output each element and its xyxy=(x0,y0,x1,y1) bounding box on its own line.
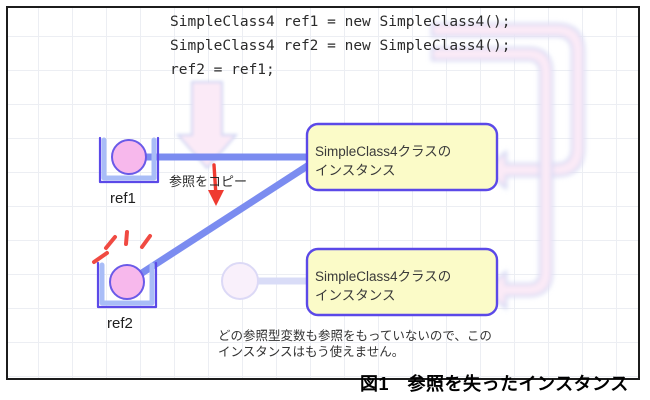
faded-reference-circle xyxy=(222,263,258,299)
code-line-2: SimpleClass4 ref2 = new SimpleClass4(); xyxy=(170,38,510,54)
instance-box-1-text: SimpleClass4クラスの インスタンス xyxy=(315,142,495,180)
copy-reference-label: 参照をコピー xyxy=(169,171,247,190)
orphan-instance-note: どの参照型変数も参照をもっていないので、この インスタンスはもう使えません。 xyxy=(218,328,518,360)
code-line-1: SimpleClass4 ref1 = new SimpleClass4(); xyxy=(170,14,510,30)
instance-box-2-text: SimpleClass4クラスの インスタンス xyxy=(315,267,495,305)
code-line-3: ref2 = ref1; xyxy=(170,62,275,78)
ref2-flash-marks xyxy=(94,232,150,262)
variable-label-ref1: ref1 xyxy=(110,190,136,207)
figure-container: SimpleClass4 ref1 = new SimpleClass4(); … xyxy=(0,0,650,400)
figure-title: 図1 参照を失ったインスタンス xyxy=(360,370,629,396)
variable-label-ref2: ref2 xyxy=(107,315,133,332)
